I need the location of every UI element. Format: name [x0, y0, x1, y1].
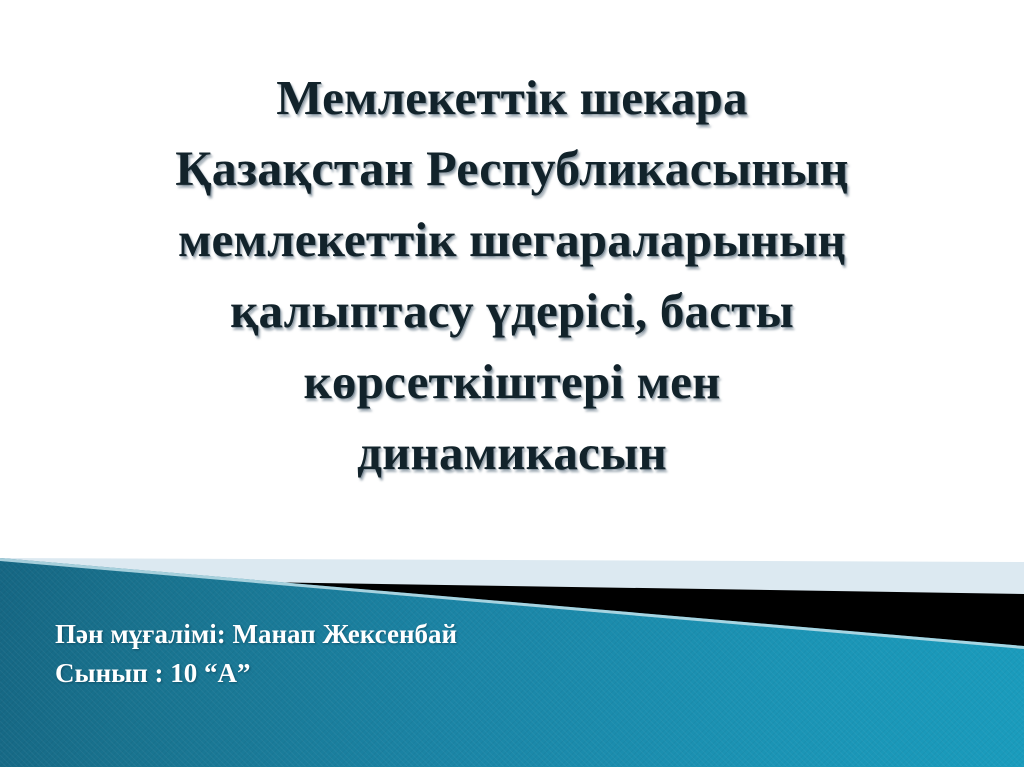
subtitle-teacher-line: Пән мұғалімі: Манап Жексенбай [55, 615, 875, 654]
title-line-2: Қазақстан Республикасының [0, 133, 1024, 204]
slide-title: Мемлекеттік шекара Қазақстан Республикас… [0, 62, 1024, 488]
title-line-3: мемлекеттік шегараларының [0, 204, 1024, 275]
slide-subtitle: Пән мұғалімі: Манап Жексенбай Сынып : 10… [55, 615, 875, 693]
title-line-1: Мемлекеттік шекара [0, 62, 1024, 133]
subtitle-class-line: Сынып : 10 “А” [55, 654, 875, 693]
title-line-6: динамикасын [0, 417, 1024, 488]
title-line-5: көрсеткіштері мен [0, 346, 1024, 417]
title-line-4: қалыптасу үдерісі, басты [0, 275, 1024, 346]
presentation-slide: Мемлекеттік шекара Қазақстан Республикас… [0, 0, 1024, 767]
